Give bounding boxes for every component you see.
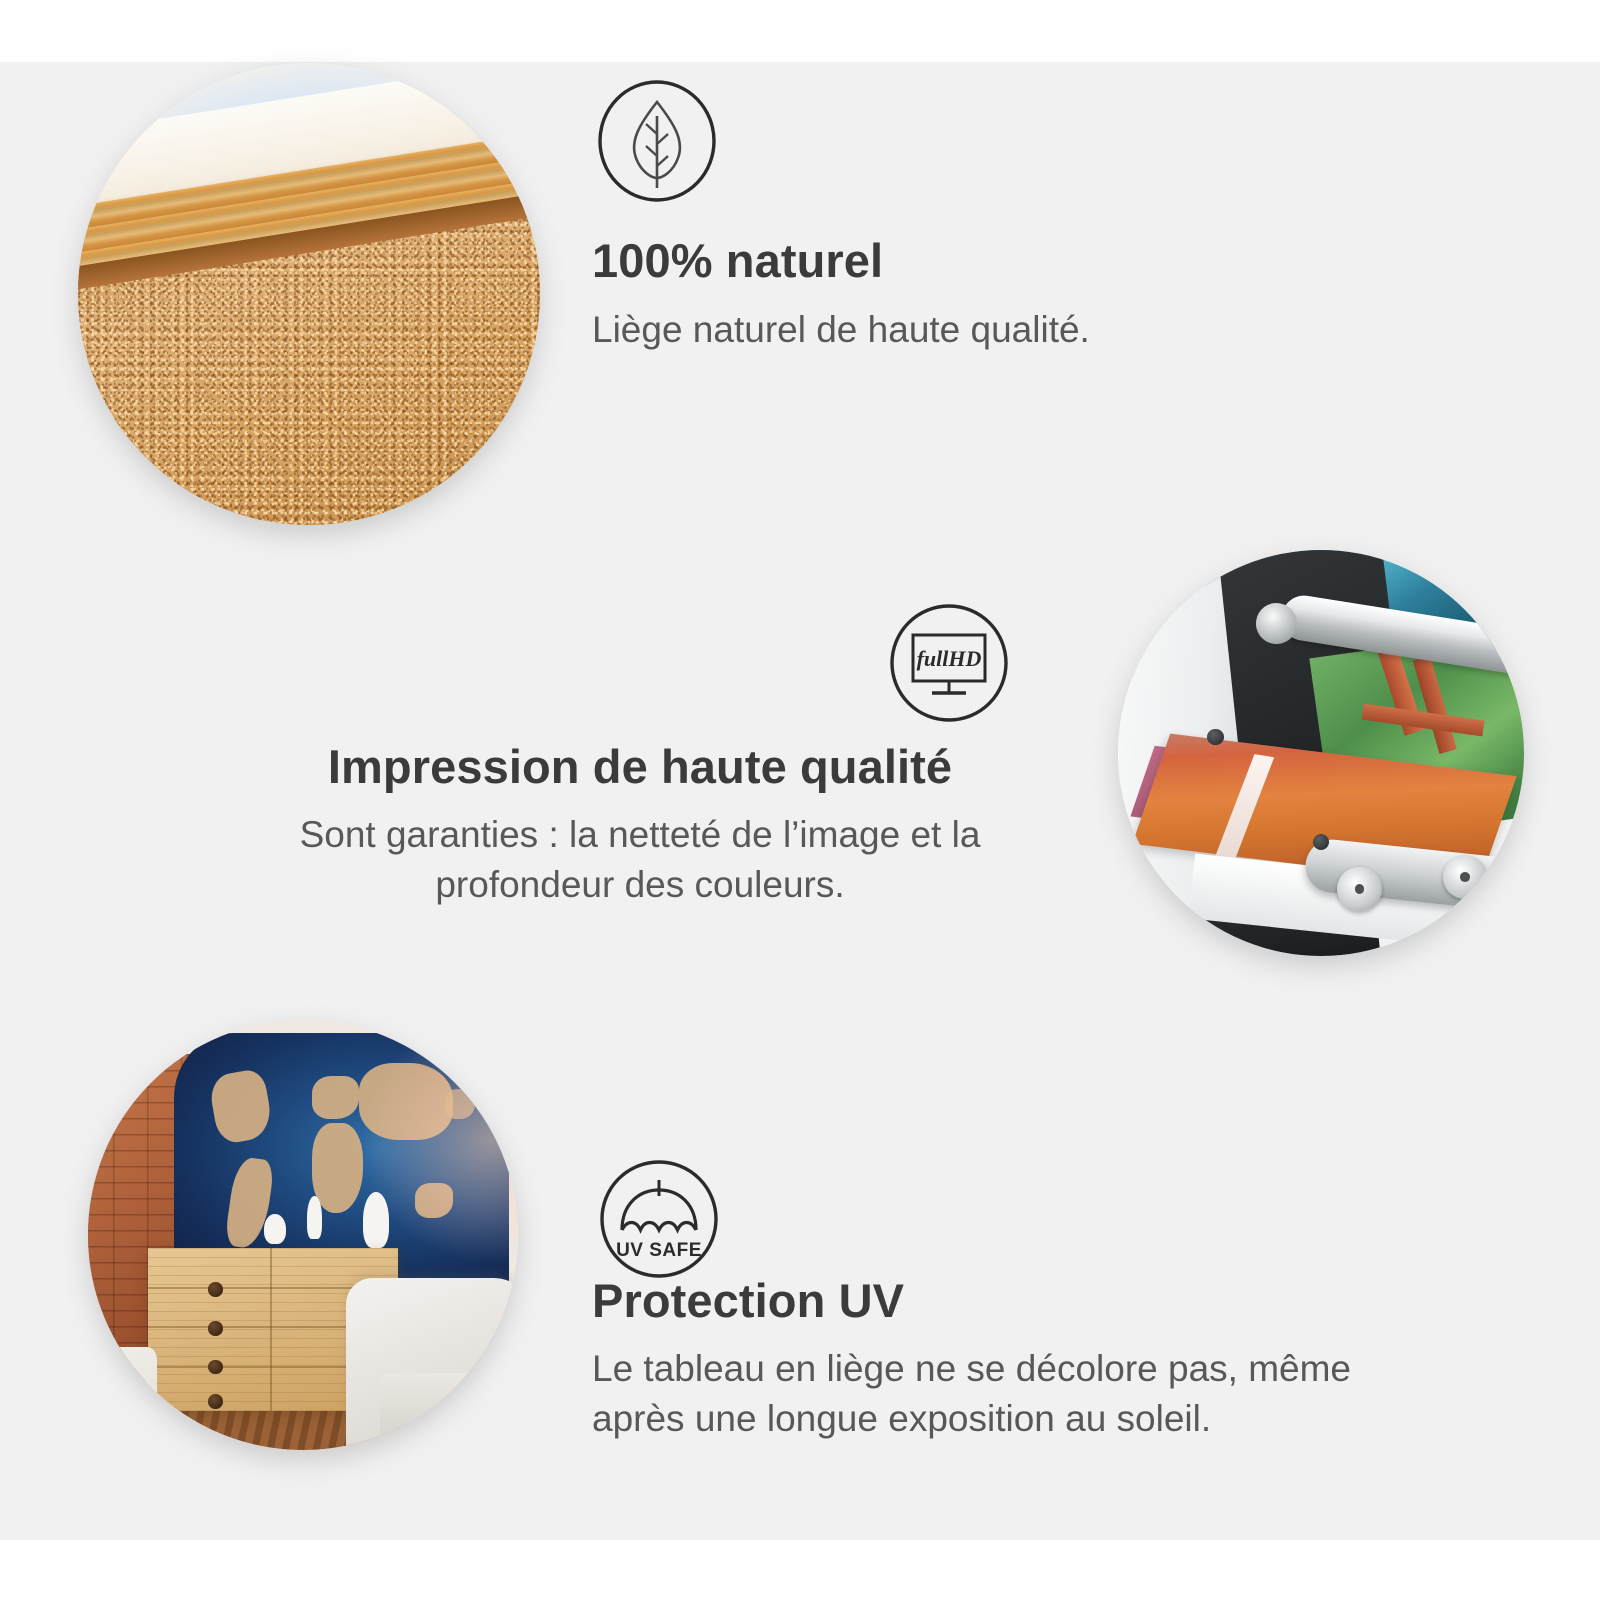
- feature-text-natural: 100% naturel Liège naturel de haute qual…: [592, 232, 1212, 356]
- feature-title-print-quality: Impression de haute qualité: [240, 738, 1040, 796]
- armchair-armrest: [380, 1373, 509, 1442]
- leaf-in-circle-icon: [594, 76, 720, 206]
- feature-description-natural: Liège naturel de haute qualité.: [592, 304, 1212, 356]
- decor-object-2: [307, 1196, 322, 1239]
- drawer-divider-vertical: [270, 1248, 272, 1411]
- fullhd-label: fullHD: [917, 646, 982, 671]
- drawer-knob-1: [208, 1282, 223, 1297]
- feature-description-uv-protection: Le tableau en liège ne se décolore pas, …: [592, 1344, 1452, 1444]
- feature-infographic: 100% naturel Liège naturel de haute qual…: [0, 0, 1600, 1600]
- continent-europe: [312, 1076, 359, 1119]
- feature-description-print-quality: Sont garanties : la netteté de l’image e…: [240, 810, 1040, 910]
- drawer-knob-3: [208, 1360, 223, 1375]
- decor-object-1: [264, 1214, 286, 1244]
- feature-title-natural: 100% naturel: [592, 232, 1212, 290]
- uv-safe-label: UV SAFE: [616, 1240, 702, 1261]
- feature-text-uv-protection: Protection UV Le tableau en liège ne se …: [592, 1272, 1452, 1444]
- feature-title-uv-protection: Protection UV: [592, 1272, 1452, 1330]
- decor-object-3: [363, 1192, 389, 1248]
- printing-machine-photo: [1118, 550, 1524, 956]
- printer-bolt-upper: [1207, 729, 1223, 745]
- armchair-left: [88, 1347, 157, 1450]
- cork-texture-photo: [78, 63, 540, 525]
- fullhd-monitor-icon: fullHD: [886, 600, 1012, 726]
- roller-wheel-hub-right: [1460, 872, 1470, 882]
- drawer-knob-4: [208, 1394, 223, 1409]
- feature-text-print-quality: Impression de haute qualité Sont garanti…: [240, 738, 1040, 910]
- interior-world-map-photo: [88, 1020, 518, 1450]
- drawer-knob-2: [208, 1321, 223, 1336]
- uv-safe-umbrella-icon: UV SAFE: [596, 1156, 722, 1282]
